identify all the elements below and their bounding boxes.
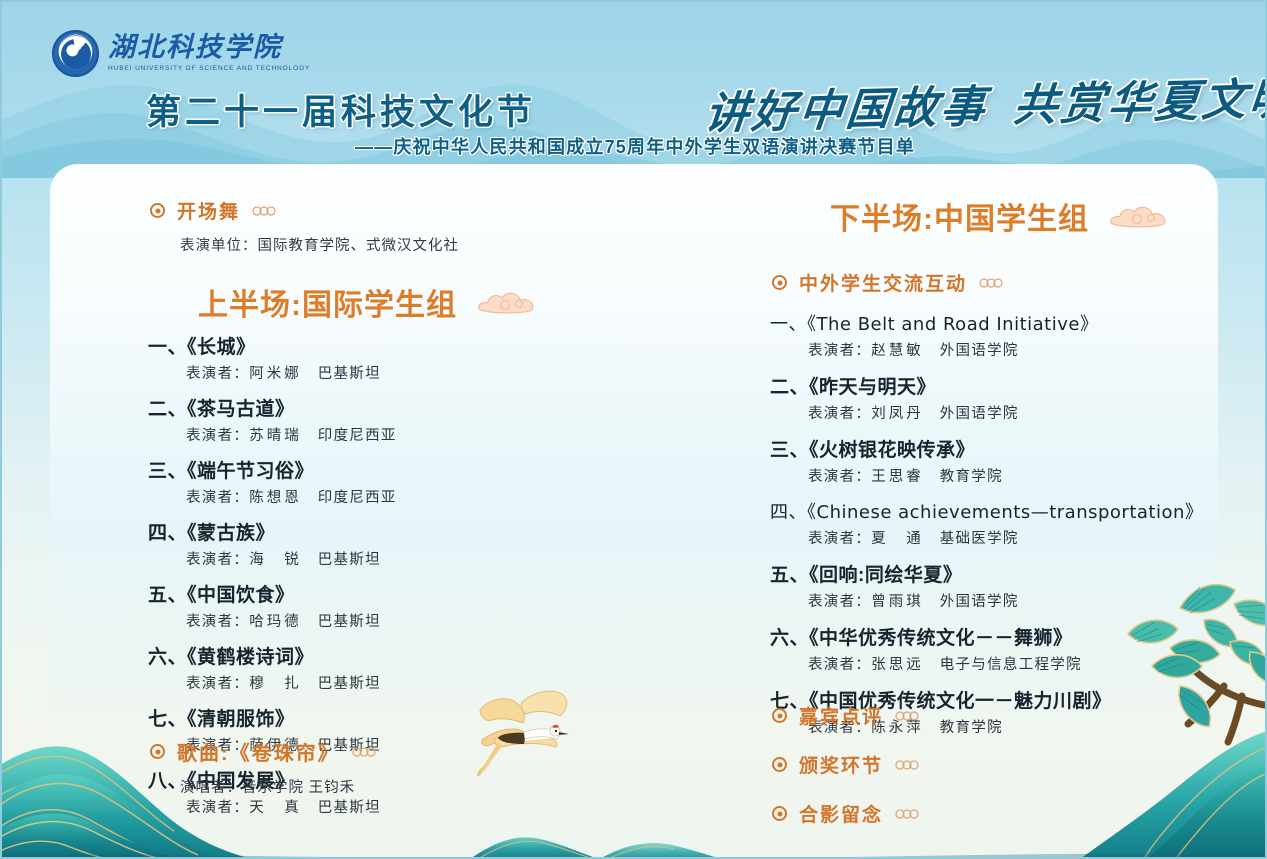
program-item: 四、《蒙古族》表演者：海 锐巴基斯坦: [148, 518, 397, 569]
auspicious-cloud-icon: [475, 287, 545, 317]
program-performer: 表演者：海 锐巴基斯坦: [186, 548, 397, 569]
auspicious-cloud-icon: [1107, 201, 1177, 231]
program-item: 六、《中华优秀传统文化－－舞狮》表演者：张思远电子与信息工程学院: [770, 623, 1203, 674]
second-half-heading: 下半场:中国学生组: [830, 194, 1177, 238]
program-performer: 表演者：刘凤丹外国语学院: [808, 402, 1203, 423]
song-header: 歌曲:《卷珠帘》: [150, 737, 376, 766]
program-title: 六、《黄鹤楼诗词》: [148, 642, 397, 669]
auspicious-cloud-icon: [895, 809, 919, 819]
closing-item: 合影留念: [772, 800, 919, 824]
logo-name-en: HUBEI UNIVERSITY OF SCIENCE AND TECHNOLO…: [108, 66, 310, 73]
program-title: 二、《昨天与明天》: [770, 372, 1203, 399]
program-title: 一、《长城》: [148, 332, 397, 359]
program-item: 四、《Chinese achievements—transportation》表…: [770, 498, 1203, 548]
program-title: 四、《蒙古族》: [148, 518, 397, 545]
program-item: 三、《火树银花映传承》表演者：王思睿教育学院: [770, 435, 1203, 486]
interaction-header: 中外学生交流互动: [772, 269, 1003, 296]
closing-item-title: 合影留念: [799, 800, 883, 824]
program-performer: 表演者：苏晴瑞印度尼西亚: [186, 424, 397, 445]
auspicious-cloud-icon: [979, 278, 1003, 288]
program-panel: 开场舞 表演单位：国际教育学院、式微汉文化社 上半场:国际学生组 一、《长城》表…: [50, 164, 1218, 824]
program-title: 六、《中华优秀传统文化－－舞狮》: [770, 623, 1203, 650]
opening-dance-performer: 表演单位：国际教育学院、式微汉文化社: [180, 234, 459, 255]
program-title: 三、《火树银花映传承》: [770, 435, 1203, 462]
closing-item: 嘉宾点评: [772, 702, 919, 729]
poster-canvas: 湖北科技学院 HUBEI UNIVERSITY OF SCIENCE AND T…: [0, 0, 1267, 859]
second-half-title: 下半场:中国学生组: [830, 194, 1089, 238]
ring-bullet-icon: [772, 757, 787, 772]
program-title: 二、《茶马古道》: [148, 394, 397, 421]
interaction-title: 中外学生交流互动: [799, 269, 967, 296]
program-performer: 表演者：夏 通基础医学院: [808, 527, 1203, 548]
program-performer: 表演者：王思睿教育学院: [808, 465, 1203, 486]
program-performer: 表演者：穆 扎巴基斯坦: [186, 672, 397, 693]
program-performer: 表演者：赵慧敏外国语学院: [808, 339, 1203, 360]
logo-name-cn: 湖北科技学院: [108, 34, 310, 61]
page-title: 第二十一届科技文化节: [146, 84, 536, 135]
first-half-title: 上半场:国际学生组: [198, 280, 457, 324]
program-item: 二、《昨天与明天》表演者：刘凤丹外国语学院: [770, 372, 1203, 423]
program-performer: 表演者：陈想恩印度尼西亚: [186, 486, 397, 507]
program-title: 五、《中国饮食》: [148, 580, 397, 607]
program-title: 三、《端午节习俗》: [148, 456, 397, 483]
opening-dance-header: 开场舞: [150, 197, 276, 224]
university-logo: 湖北科技学院 HUBEI UNIVERSITY OF SCIENCE AND T…: [52, 30, 310, 77]
calligraphy-slogan-right: 共赏华夏文明: [1011, 73, 1267, 131]
program-performer: 表演者：阿米娜巴基斯坦: [186, 362, 397, 383]
program-item: 一、《长城》表演者：阿米娜巴基斯坦: [148, 332, 397, 383]
university-seal-icon: [52, 30, 99, 77]
ring-bullet-icon: [150, 203, 165, 218]
ring-bullet-icon: [772, 708, 787, 723]
song-performer: 演唱者：音乐学院 王钧禾: [180, 776, 355, 797]
program-item: 六、《黄鹤楼诗词》表演者：穆 扎巴基斯坦: [148, 642, 397, 693]
first-half-heading: 上半场:国际学生组: [198, 280, 545, 324]
closing-items-list: 嘉宾点评颁奖环节合影留念: [772, 702, 919, 824]
program-title: 五、《回响:同绘华夏》: [770, 560, 1203, 587]
opening-dance-title: 开场舞: [177, 197, 240, 224]
auspicious-cloud-icon: [895, 711, 919, 721]
program-item: 二、《茶马古道》表演者：苏晴瑞印度尼西亚: [148, 394, 397, 445]
ring-bullet-icon: [772, 275, 787, 290]
ring-bullet-icon: [150, 744, 165, 759]
calligraphy-slogan-left: 讲好中国故事: [702, 81, 990, 139]
program-title: 四、《Chinese achievements—transportation》: [770, 498, 1203, 524]
song-title: 歌曲:《卷珠帘》: [177, 737, 340, 766]
closing-item-title: 嘉宾点评: [799, 702, 883, 729]
program-performer: 表演者：曾雨琪外国语学院: [808, 590, 1203, 611]
program-performer: 表演者：哈玛德巴基斯坦: [186, 610, 397, 631]
program-item: 五、《回响:同绘华夏》表演者：曾雨琪外国语学院: [770, 560, 1203, 611]
program-item: 三、《端午节习俗》表演者：陈想恩印度尼西亚: [148, 456, 397, 507]
program-performer: 表演者：张思远电子与信息工程学院: [808, 653, 1203, 674]
auspicious-cloud-icon: [895, 760, 919, 770]
program-item: 五、《中国饮食》表演者：哈玛德巴基斯坦: [148, 580, 397, 631]
logo-text: 湖北科技学院 HUBEI UNIVERSITY OF SCIENCE AND T…: [108, 34, 310, 73]
closing-item: 颁奖环节: [772, 751, 919, 778]
program-title: 一、《The Belt and Road Initiative》: [770, 310, 1203, 336]
program-performer: 表演者：天 真巴基斯坦: [186, 796, 397, 817]
second-half-program-list: 一、《The Belt and Road Initiative》表演者：赵慧敏外…: [770, 310, 1203, 749]
program-title: 七、《清朝服饰》: [148, 704, 397, 731]
program-item: 一、《The Belt and Road Initiative》表演者：赵慧敏外…: [770, 310, 1203, 360]
closing-item-title: 颁奖环节: [799, 751, 883, 778]
ring-bullet-icon: [772, 806, 787, 821]
auspicious-cloud-icon: [252, 206, 276, 216]
auspicious-cloud-icon: [352, 747, 376, 757]
